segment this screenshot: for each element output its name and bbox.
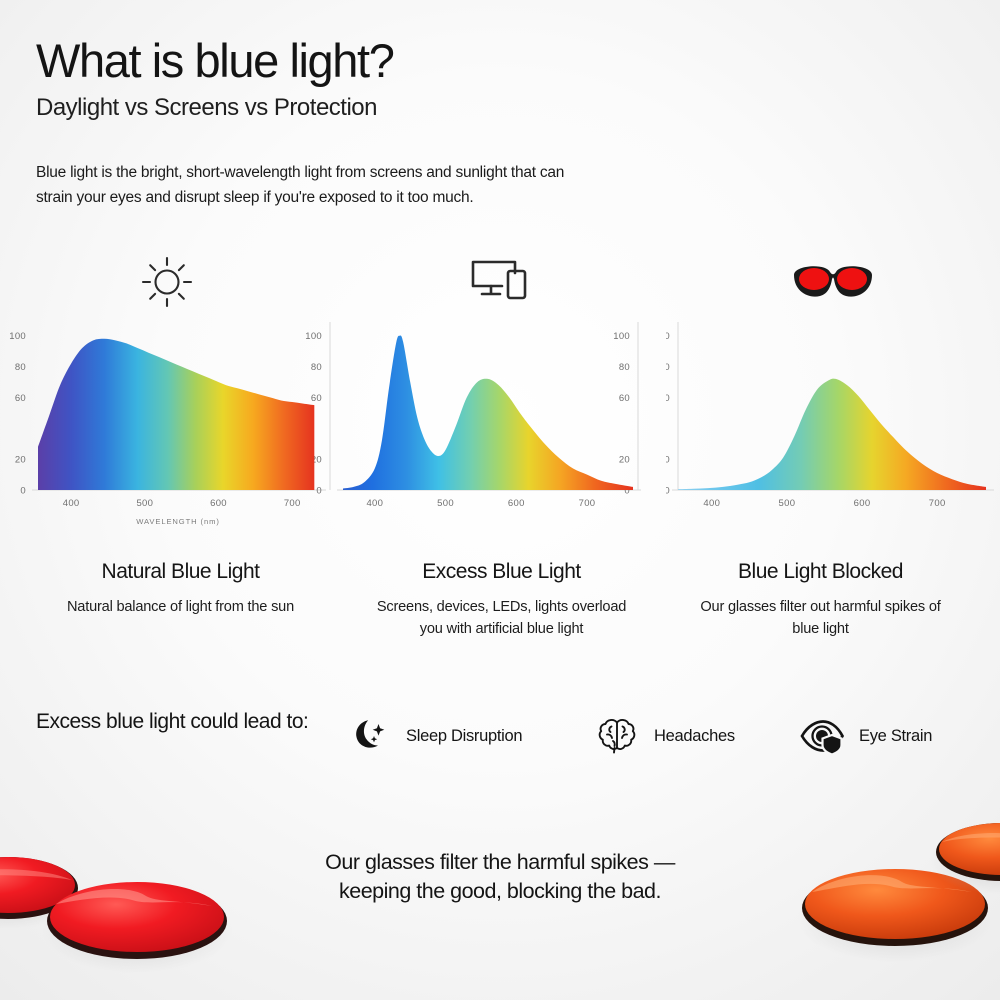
panel-excess-blue-light: 0206080100400500600700 <box>333 248 666 548</box>
spectrum-curve <box>343 335 633 490</box>
page-title: What is blue light? <box>36 36 756 85</box>
y-tick-label: 100 <box>666 331 670 342</box>
y-tick-label: 80 <box>666 362 670 373</box>
screens-icon <box>333 250 666 314</box>
y-tick-label: 60 <box>666 393 670 404</box>
symptoms-row: Excess blue light could lead to: Sleep D… <box>36 700 966 780</box>
spectrum-curve <box>678 379 986 490</box>
y-tick-label: 20 <box>15 455 26 466</box>
y-tick-label: 20 <box>666 455 670 466</box>
brain-icon <box>594 714 640 758</box>
spectrum-curve <box>38 339 314 490</box>
x-tick-label: 700 <box>284 498 301 509</box>
infographic-page: What is blue light? Daylight vs Screens … <box>0 0 1000 1000</box>
caption-natural-blue-light: Natural Blue Light Natural balance of li… <box>14 560 347 619</box>
chart-natural-blue-light: 00202060608080100100400500600700WAVELENG… <box>0 314 333 548</box>
panel-captions: Natural Blue Light Natural balance of li… <box>0 560 1000 680</box>
caption-title: Blue Light Blocked <box>654 560 987 584</box>
y-tick-label: 80 <box>15 362 26 373</box>
x-tick-label: 400 <box>63 498 80 509</box>
x-tick-label: 400 <box>366 498 383 509</box>
eye-shield-icon <box>799 714 845 758</box>
closing-line-1: Our glasses filter the harmful spikes — <box>0 848 1000 877</box>
x-tick-label: 600 <box>210 498 227 509</box>
x-axis-title: WAVELENGTH (nm) <box>136 517 220 526</box>
y-tick-label: 60 <box>15 393 26 404</box>
symptoms-lead: Excess blue light could lead to: <box>36 708 326 736</box>
chart-area-2: 0206080100400500600700 <box>666 322 994 509</box>
closing-statement: Our glasses filter the harmful spikes — … <box>0 848 1000 906</box>
sun-icon <box>0 250 333 314</box>
y-tick-label: 100 <box>305 331 322 342</box>
x-tick-label: 600 <box>508 498 525 509</box>
intro-paragraph: Blue light is the bright, short-waveleng… <box>36 160 566 210</box>
panel-natural-blue-light: 00202060608080100100400500600700WAVELENG… <box>0 248 333 548</box>
x-tick-label: 600 <box>854 498 871 509</box>
y-tick-label: 80 <box>619 362 630 373</box>
y-tick-label: 60 <box>619 393 630 404</box>
closing-line-2: keeping the good, blocking the bad. <box>0 877 1000 906</box>
caption-title: Excess Blue Light <box>335 560 668 584</box>
panel-blue-light-blocked: 0206080100400500600700 <box>666 248 999 548</box>
symptom-label: Eye Strain <box>859 727 932 746</box>
symptom-sleep-disruption: Sleep Disruption <box>346 714 522 758</box>
moon-sparkle-icon <box>346 714 392 758</box>
caption-body: Screens, devices, LEDs, lights overload … <box>377 597 627 641</box>
chart-excess-blue-light: 0206080100400500600700 <box>333 314 666 548</box>
y-tick-label: 100 <box>9 331 26 342</box>
y-tick-label: 0 <box>20 486 26 497</box>
x-tick-label: 500 <box>779 498 796 509</box>
x-tick-label: 700 <box>579 498 596 509</box>
y-tick-label: 0 <box>666 486 670 497</box>
symptom-headaches: Headaches <box>594 714 735 758</box>
y-tick-label: 20 <box>619 455 630 466</box>
symptom-label: Sleep Disruption <box>406 727 522 746</box>
header: What is blue light? Daylight vs Screens … <box>36 36 756 122</box>
x-tick-label: 400 <box>703 498 720 509</box>
page-subtitle: Daylight vs Screens vs Protection <box>36 94 756 122</box>
y-tick-label: 100 <box>613 331 630 342</box>
x-tick-label: 500 <box>437 498 454 509</box>
x-tick-label: 700 <box>929 498 946 509</box>
caption-blue-light-blocked: Blue Light Blocked Our glasses filter ou… <box>654 560 987 641</box>
chart-area-1: 0206080100400500600700 <box>337 322 641 509</box>
chart-blue-light-blocked: 0206080100400500600700 <box>666 314 999 548</box>
x-tick-label: 500 <box>136 498 153 509</box>
y-tick-label: 0 <box>316 486 322 497</box>
caption-title: Natural Blue Light <box>14 560 347 584</box>
glasses-icon <box>666 250 999 314</box>
chart-area-0: 00202060608080100100400500600700WAVELENG… <box>9 322 330 526</box>
y-tick-label: 80 <box>311 362 322 373</box>
y-tick-label: 60 <box>311 393 322 404</box>
symptom-label: Headaches <box>654 727 735 746</box>
caption-excess-blue-light: Excess Blue Light Screens, devices, LEDs… <box>335 560 668 641</box>
caption-body: Natural balance of light from the sun <box>56 597 306 619</box>
symptom-eye-strain: Eye Strain <box>799 714 932 758</box>
caption-body: Our glasses filter out harmful spikes of… <box>696 597 946 641</box>
spectra-panels: 00202060608080100100400500600700WAVELENG… <box>0 248 1000 548</box>
